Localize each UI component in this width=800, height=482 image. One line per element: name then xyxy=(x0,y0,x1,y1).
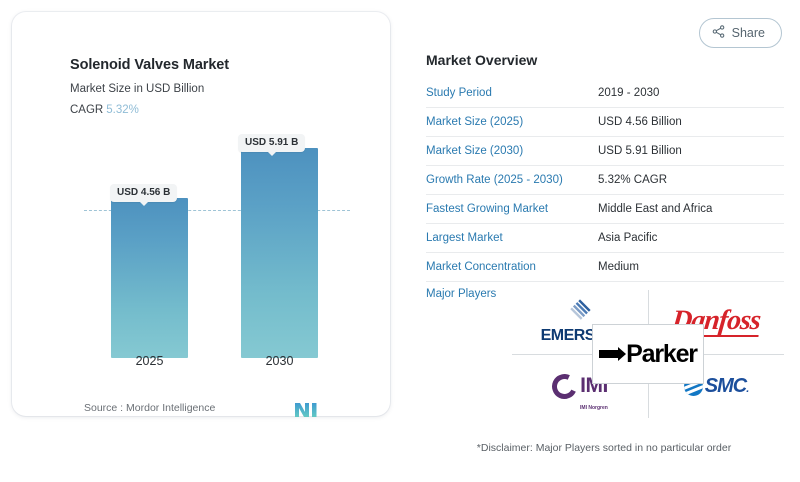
row-key: Market Size (2025) xyxy=(426,116,598,128)
row-key: Growth Rate (2025 - 2030) xyxy=(426,174,598,186)
share-button[interactable]: Share xyxy=(699,18,782,48)
chart-cagr: CAGR5.32% xyxy=(70,104,139,116)
row-key: Market Size (2030) xyxy=(426,145,598,157)
row-key: Fastest Growing Market xyxy=(426,203,598,215)
table-row: Market Size (2030) USD 5.91 Billion xyxy=(426,137,784,166)
x-axis-tick-2030: 2030 xyxy=(241,354,318,368)
parker-wordmark: Parker xyxy=(626,340,697,369)
row-value: Middle East and Africa xyxy=(598,203,712,215)
row-key: Study Period xyxy=(426,87,598,99)
share-button-label: Share xyxy=(732,26,765,40)
row-value: USD 4.56 Billion xyxy=(598,116,682,128)
imi-subtitle: IMI Norgren xyxy=(580,405,608,411)
table-row: Largest Market Asia Pacific xyxy=(426,224,784,253)
table-row: Market Concentration Medium xyxy=(426,253,784,282)
bar-value-label-2030: USD 5.91 B xyxy=(238,134,305,152)
cagr-label: CAGR xyxy=(70,104,103,116)
source-text: Source : Mordor Intelligence xyxy=(84,402,215,414)
table-row: Growth Rate (2025 - 2030) 5.32% CAGR xyxy=(426,166,784,195)
parker-logo: Parker xyxy=(599,340,697,369)
mordor-intelligence-logo xyxy=(293,400,321,419)
chart-subtitle: Market Size in USD Billion xyxy=(70,83,204,95)
table-row: Market Size (2025) USD 4.56 Billion xyxy=(426,108,784,137)
table-row: Fastest Growing Market Middle East and A… xyxy=(426,195,784,224)
market-overview-table: Study Period 2019 - 2030 Market Size (20… xyxy=(426,79,784,312)
major-players-logo-grid: EMERSON. Danfoss IMI IMI Norgren SMC. Pa… xyxy=(512,290,784,418)
chart-card: Solenoid Valves Market Market Size in US… xyxy=(12,12,390,416)
table-row: Study Period 2019 - 2030 xyxy=(426,79,784,108)
market-overview-title: Market Overview xyxy=(426,52,537,68)
row-key: Market Concentration xyxy=(426,261,598,273)
row-value: USD 5.91 Billion xyxy=(598,145,682,157)
row-value: Medium xyxy=(598,261,639,273)
bar-chart-plot: USD 4.56 B USD 5.91 B 2025 2030 xyxy=(24,132,390,370)
row-value: Asia Pacific xyxy=(598,232,657,244)
smc-wordmark: SMC. xyxy=(705,375,749,398)
row-key: Largest Market xyxy=(426,232,598,244)
parker-arrow-icon xyxy=(599,350,619,358)
imi-ring-icon xyxy=(549,370,581,402)
row-value: 2019 - 2030 xyxy=(598,87,659,99)
row-value: 5.32% CAGR xyxy=(598,174,667,186)
bar-2025[interactable] xyxy=(111,198,188,358)
share-nodes-icon xyxy=(712,25,725,41)
player-logo-cell-parker: Parker xyxy=(592,324,704,384)
bar-value-label-2025: USD 4.56 B xyxy=(110,184,177,202)
chart-title: Solenoid Valves Market xyxy=(70,57,229,73)
disclaimer-text: *Disclaimer: Major Players sorted in no … xyxy=(424,442,784,454)
bar-2030[interactable] xyxy=(241,148,318,358)
emerson-mark-icon xyxy=(541,299,620,326)
x-axis-tick-2025: 2025 xyxy=(111,354,188,368)
cagr-value: 5.32% xyxy=(106,104,139,116)
